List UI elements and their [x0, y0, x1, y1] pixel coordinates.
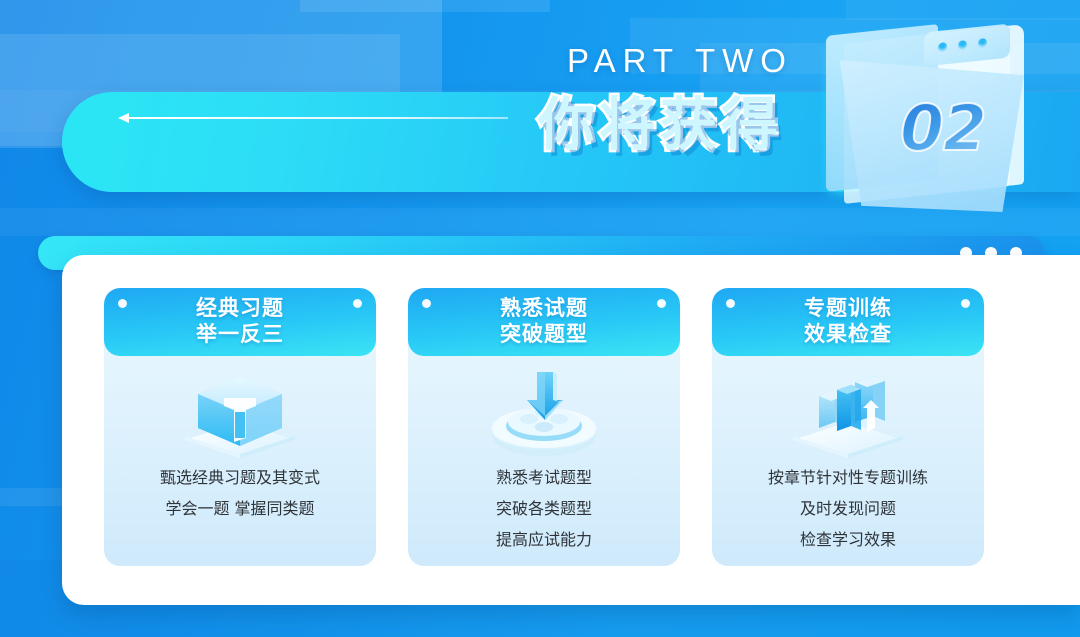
cube-platform-icon	[104, 362, 376, 462]
card-text-line: 提高应试能力	[422, 524, 666, 555]
folder-number-outline: 02	[878, 92, 1008, 165]
card-topic-training[interactable]: 专题训练 效果检查	[712, 288, 984, 566]
folder-icon: 02 02	[808, 14, 1038, 216]
arrow-left-icon	[118, 111, 508, 125]
card-title-line2: 突破题型	[500, 322, 588, 348]
pin-dot-icon	[353, 299, 362, 308]
card-header: 熟悉试题 突破题型	[408, 288, 680, 356]
pin-dot-icon	[422, 299, 431, 308]
card-title-line2: 效果检查	[804, 322, 892, 348]
card-list: 经典习题 举一反三	[104, 288, 984, 566]
card-text-line: 检查学习效果	[726, 524, 970, 555]
background-band	[300, 0, 550, 12]
card-title-line2: 举一反三	[196, 322, 284, 348]
pin-dot-icon	[726, 299, 735, 308]
pin-dot-icon	[657, 299, 666, 308]
page-title: 你将获得	[500, 97, 820, 154]
card-title: 经典习题 举一反三	[196, 296, 284, 347]
arrow-line	[128, 117, 508, 119]
notch-dot-icon	[978, 38, 987, 48]
card-body: 甄选经典习题及其变式 学会一题 掌握同类题	[104, 462, 376, 524]
notch-dot-icon	[958, 40, 967, 50]
part-label: PART TWO	[540, 42, 820, 80]
card-title: 熟悉试题 突破题型	[500, 296, 588, 347]
card-familiar-questions[interactable]: 熟悉试题 突破题型	[408, 288, 680, 566]
poster-canvas: PART TWO 你将获得 02 02	[0, 0, 1080, 637]
card-title-line1: 经典习题	[196, 296, 284, 322]
card-header: 经典习题 举一反三	[104, 288, 376, 356]
card-text-line: 按章节针对性专题训练	[726, 462, 970, 493]
card-header: 专题训练 效果检查	[712, 288, 984, 356]
card-title-line1: 熟悉试题	[500, 296, 588, 322]
card-body: 熟悉考试题型 突破各类题型 提高应试能力	[408, 462, 680, 556]
card-text-line: 熟悉考试题型	[422, 462, 666, 493]
card-title: 专题训练 效果检查	[804, 296, 892, 347]
card-classic-exercises[interactable]: 经典习题 举一反三	[104, 288, 376, 566]
pin-dot-icon	[118, 299, 127, 308]
card-text-line: 及时发现问题	[726, 493, 970, 524]
card-title-line1: 专题训练	[804, 296, 892, 322]
bar-chart-arrow-up-icon	[712, 362, 984, 462]
arrow-down-target-icon	[408, 362, 680, 462]
notch-dot-icon	[938, 42, 947, 52]
card-body: 按章节针对性专题训练 及时发现问题 检查学习效果	[712, 462, 984, 556]
card-text-line: 学会一题 掌握同类题	[118, 493, 362, 524]
card-text-line: 突破各类题型	[422, 493, 666, 524]
pin-dot-icon	[961, 299, 970, 308]
card-text-line: 甄选经典习题及其变式	[118, 462, 362, 493]
